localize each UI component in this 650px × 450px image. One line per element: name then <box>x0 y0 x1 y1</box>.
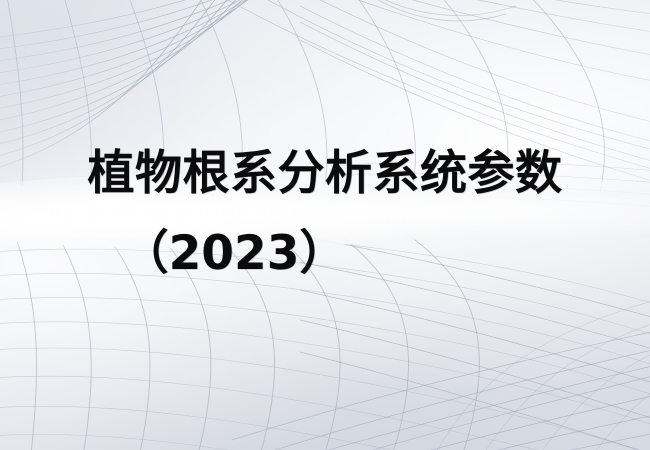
slide-title-block: 植物根系分析系统参数 （2023） <box>0 0 650 450</box>
slide-title-main: 植物根系分析系统参数 <box>0 146 650 202</box>
title-slide: 植物根系分析系统参数 （2023） <box>0 0 650 450</box>
slide-title-year: （2023） <box>0 226 650 282</box>
